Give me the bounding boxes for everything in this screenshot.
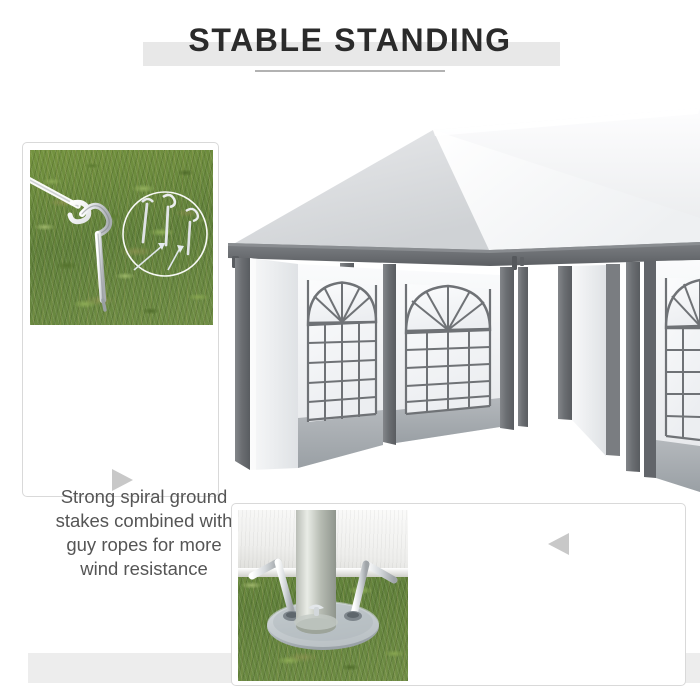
page-title: STABLE STANDING	[0, 22, 700, 59]
window-panel-3	[656, 260, 700, 492]
photo-pole-foot-plate	[238, 510, 408, 681]
feature-card-spiral-stake: Strong spiral ground stakes combined wit…	[22, 142, 219, 497]
window-panel-2	[396, 270, 500, 443]
party-tent-svg	[228, 100, 700, 500]
triangle-right-icon	[112, 469, 133, 491]
feature-card-l-shaped-stake: L-shaped ground stakes are inserted in t…	[231, 503, 686, 686]
product-illustration-party-tent	[228, 100, 700, 500]
spiral-stake-illustration	[30, 150, 213, 325]
window-panel-1	[298, 264, 383, 468]
triangle-left-icon	[548, 533, 569, 555]
title-divider	[255, 70, 445, 72]
photo-spiral-ground-stake	[30, 150, 213, 325]
pole-foot-illustration	[238, 510, 408, 681]
caption-spiral-stake: Strong spiral ground stakes combined wit…	[49, 485, 239, 581]
product-feature-graphic: STABLE STANDING	[0, 0, 700, 700]
